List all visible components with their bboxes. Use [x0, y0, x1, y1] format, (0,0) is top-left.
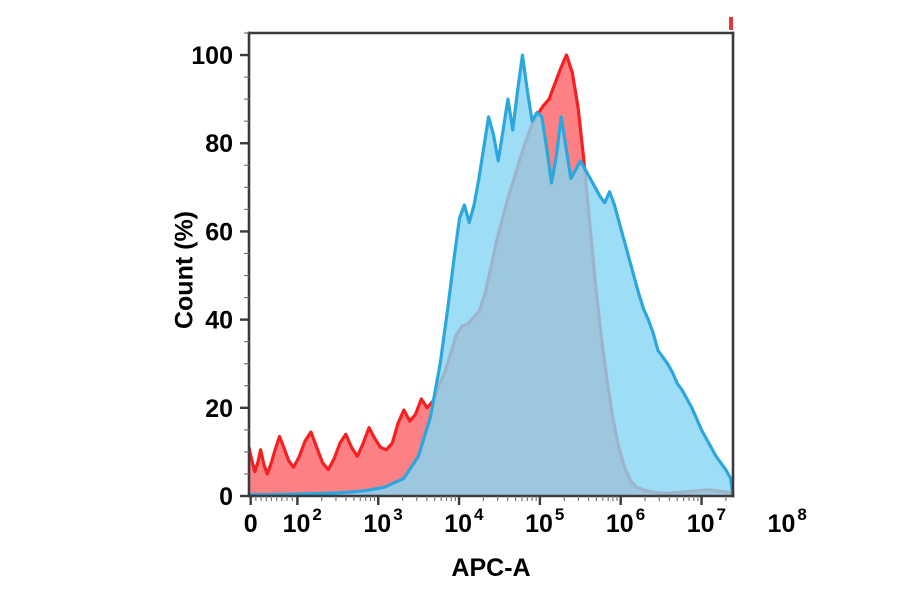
y-axis-title-group: Count (%): [171, 211, 199, 329]
flow-cytometry-histogram: 020406080100 0102103104105106107108 Coun…: [0, 0, 900, 594]
x-tick-mantissa: 10: [687, 510, 715, 538]
x-tick-mantissa: 10: [768, 510, 796, 538]
y-tick-label: 60: [205, 218, 233, 246]
corner-artifact-mark: [729, 17, 733, 30]
x-tick-mantissa: 10: [606, 510, 634, 538]
x-tick-mantissa: 10: [283, 510, 311, 538]
y-tick-label: 40: [205, 307, 233, 335]
x-tick-exponent: 4: [474, 505, 484, 524]
y-axis-title: Count (%): [171, 211, 199, 329]
y-tick-label: 0: [219, 483, 233, 511]
x-axis-title: APC-A: [451, 554, 530, 582]
x-tick-mantissa: 0: [244, 510, 258, 538]
y-tick-label: 100: [191, 42, 233, 70]
x-tick-mantissa: 10: [363, 510, 391, 538]
x-tick-exponent: 2: [312, 505, 321, 524]
y-tick-label: 20: [205, 395, 233, 423]
x-tick-label: 0: [244, 510, 258, 538]
x-tick-exponent: 3: [393, 505, 402, 524]
x-tick-exponent: 5: [555, 505, 564, 524]
x-tick-exponent: 8: [797, 505, 806, 524]
figure-root: 020406080100 0102103104105106107108 Coun…: [0, 0, 900, 594]
x-tick-exponent: 7: [717, 505, 726, 524]
x-tick-mantissa: 10: [444, 510, 472, 538]
y-tick-label: 80: [205, 130, 233, 158]
x-tick-mantissa: 10: [525, 510, 553, 538]
x-tick-exponent: 6: [636, 505, 645, 524]
